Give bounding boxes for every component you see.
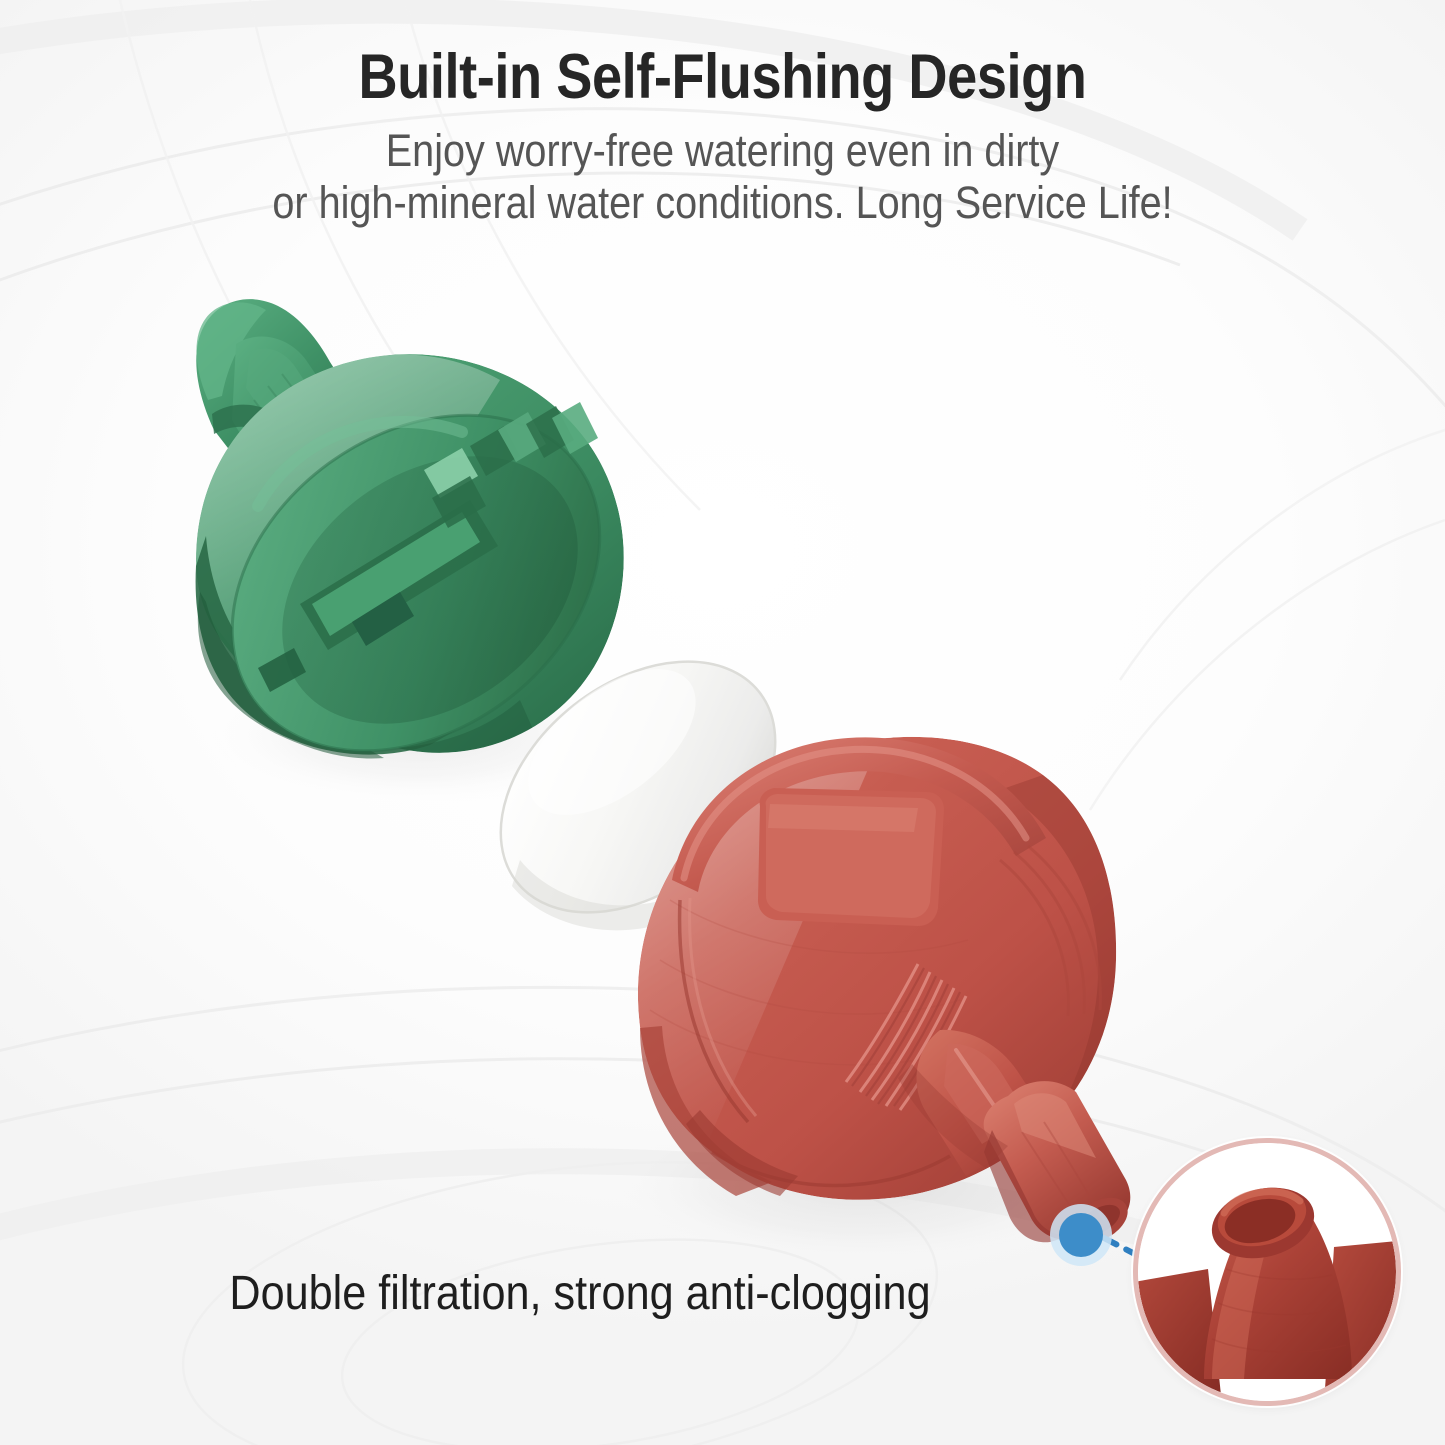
nozzle-outlet-magnifier (1133, 1138, 1401, 1406)
marker-core (1059, 1213, 1103, 1257)
page-title: Built-in Self-Flushing Design (101, 46, 1344, 109)
subtitle-line-1: Enjoy worry-free watering even in dirty (87, 125, 1359, 177)
nozzle-tip-marker (1050, 1204, 1112, 1266)
page-subtitle: Enjoy worry-free watering even in dirty … (87, 125, 1359, 229)
magnifier-ring (1133, 1138, 1401, 1406)
red-body-raised-panel (758, 788, 944, 926)
feature-caption: Double filtration, strong anti-clogging (58, 1266, 1102, 1321)
product-feature-image: Built-in Self-Flushing Design Enjoy worr… (0, 0, 1445, 1445)
subtitle-line-2: or high-mineral water conditions. Long S… (87, 177, 1359, 229)
red-dripper-body-group (638, 720, 1200, 1251)
header-block: Built-in Self-Flushing Design Enjoy worr… (0, 46, 1445, 229)
